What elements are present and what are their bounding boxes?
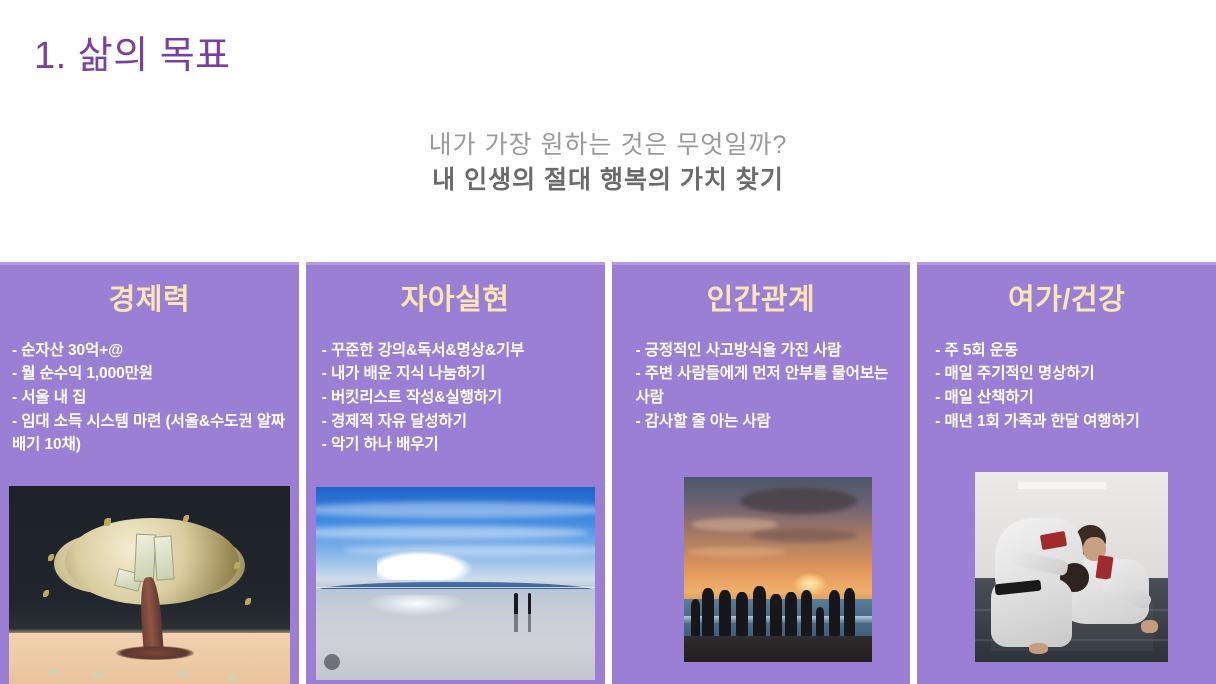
goal-card-bullet-list: - 긍정적인 사고방식을 가진 사람 - 주변 사람들에게 먼저 안부를 물어보…	[612, 339, 911, 433]
page-title: 1. 삶의 목표	[34, 24, 231, 79]
money-tree-photo	[9, 486, 290, 684]
goal-card-bullet-list: - 순자산 30억+@ - 월 순수익 1,000만원 - 서울 내 집 - 임…	[0, 339, 299, 457]
goal-card-bullet-list: - 주 5회 운동 - 매일 주기적인 명상하기 - 매일 산책하기 - 매년 …	[917, 339, 1216, 433]
list-item: - 주 5회 운동	[935, 339, 1210, 363]
list-item: - 순자산 30억+@	[12, 339, 293, 363]
list-item: - 긍정적인 사고방식을 가진 사람	[636, 339, 903, 363]
list-item: - 버킷리스트 작성&실행하기	[322, 386, 599, 410]
goal-cards-row: 경제력 - 순자산 30억+@ - 월 순수익 1,000만원 - 서울 내 집…	[0, 262, 1216, 684]
goal-card-title: 여가/건강	[1008, 285, 1125, 317]
slide-canvas: 1. 삶의 목표 내가 가장 원하는 것은 무엇일까? 내 인생의 절대 행복의…	[0, 0, 1216, 684]
list-item: - 감사할 줄 아는 사람	[636, 410, 903, 434]
jiu-jitsu-photo	[975, 472, 1168, 662]
list-item: - 월 순수익 1,000만원	[12, 362, 293, 386]
salt-flat-photo	[316, 487, 595, 680]
goal-card-economy[interactable]: 경제력 - 순자산 30억+@ - 월 순수익 1,000만원 - 서울 내 집…	[0, 262, 299, 684]
goal-card-self-realization[interactable]: 자아실현 - 꾸준한 강의&독서&명상&기부 - 내가 배운 지식 나눔하기 -…	[306, 262, 605, 684]
goal-card-title: 인간관계	[707, 285, 816, 317]
goal-card-leisure-health[interactable]: 여가/건강 - 주 5회 운동 - 매일 주기적인 명상하기 - 매일 산책하기…	[917, 262, 1216, 684]
subtitle-statement: 내 인생의 절대 행복의 가치 찾기	[0, 164, 1216, 197]
list-item: - 서울 내 집	[12, 386, 293, 410]
list-item: - 매년 1회 가족과 한달 여행하기	[935, 410, 1210, 434]
list-item: - 주변 사람들에게 먼저 안부를 물어보는 사람	[636, 362, 903, 409]
goal-card-title: 경제력	[109, 285, 191, 317]
subtitle-block: 내가 가장 원하는 것은 무엇일까? 내 인생의 절대 행복의 가치 찾기	[0, 130, 1216, 197]
sunset-people-photo	[684, 477, 873, 662]
list-item: - 매일 산책하기	[935, 386, 1210, 410]
list-item: - 꾸준한 강의&독서&명상&기부	[322, 339, 599, 363]
list-item: - 매일 주기적인 명상하기	[935, 362, 1210, 386]
list-item: - 내가 배운 지식 나눔하기	[322, 362, 599, 386]
list-item: - 경제적 자유 달성하기	[322, 410, 599, 434]
goal-card-relationships[interactable]: 인간관계 - 긍정적인 사고방식을 가진 사람 - 주변 사람들에게 먼저 안부…	[612, 262, 911, 684]
list-item: - 임대 소득 시스템 마련 (서울&수도권 알짜배기 10채)	[12, 410, 293, 457]
goal-card-bullet-list: - 꾸준한 강의&독서&명상&기부 - 내가 배운 지식 나눔하기 - 버킷리스…	[306, 339, 605, 457]
goal-card-title: 자아실현	[401, 285, 510, 317]
list-item: - 악기 하나 배우기	[322, 433, 599, 457]
subtitle-question: 내가 가장 원하는 것은 무엇일까?	[0, 130, 1216, 161]
